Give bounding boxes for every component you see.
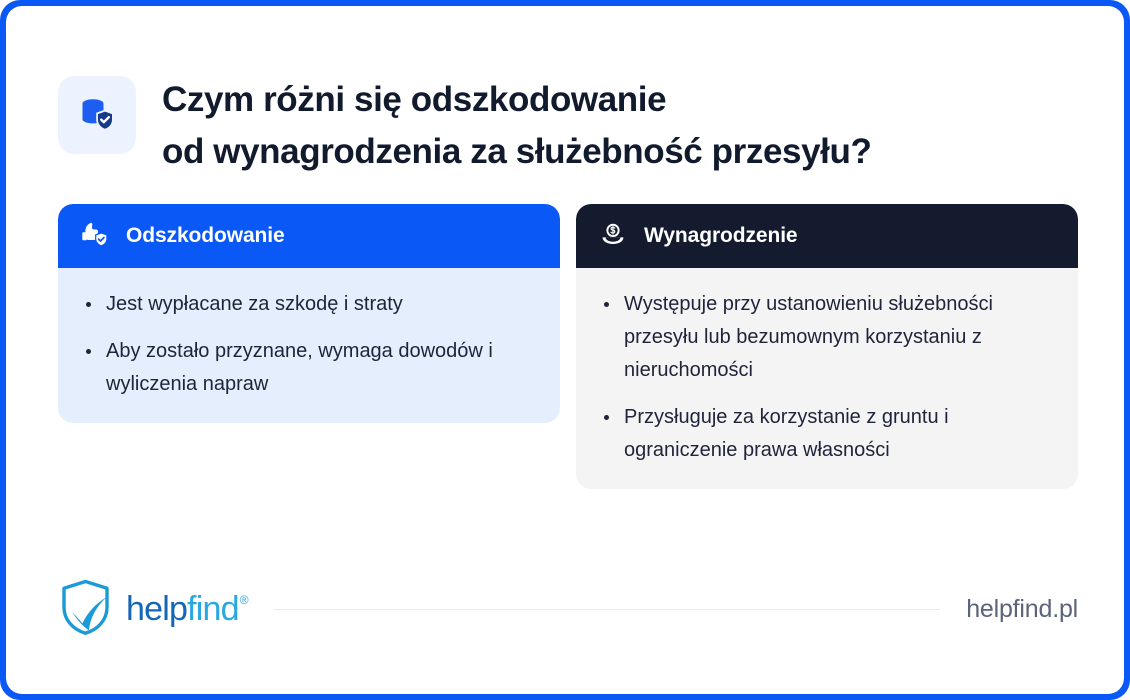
bullet-list-wynagrodzenie: Występuje przy ustanowieniu służebności … xyxy=(602,288,1052,467)
infographic-canvas: Czym różni się odszkodowanie od wynagrod… xyxy=(6,6,1124,694)
title-line-2: od wynagrodzenia za służebność przesyłu? xyxy=(162,126,871,178)
footer-domain: helpfind.pl xyxy=(966,595,1078,624)
helpfind-shield-logo xyxy=(58,578,114,641)
coin-dollar-hand-icon xyxy=(598,219,628,254)
footer: help find ® helpfind.pl xyxy=(58,574,1078,644)
thumbs-up-shield-check-icon xyxy=(80,219,110,254)
registered-trademark-icon: ® xyxy=(240,594,248,606)
card-header-odszkodowanie: Odszkodowanie xyxy=(58,204,560,268)
list-item: Jest wypłacane za szkodę i straty xyxy=(84,288,506,321)
logo-word-help: help xyxy=(126,592,187,626)
helpfind-logo[interactable]: help find ® xyxy=(58,578,248,641)
card-odszkodowanie: Odszkodowanie Jest wypłacane za szkodę i… xyxy=(58,204,560,423)
card-title-odszkodowanie: Odszkodowanie xyxy=(126,224,285,248)
card-body-wynagrodzenie: Występuje przy ustanowieniu służebności … xyxy=(576,268,1078,489)
list-item: Przysługuje za korzystanie z gruntu i og… xyxy=(602,401,1024,467)
bullet-list-odszkodowanie: Jest wypłacane za szkodę i straty Aby zo… xyxy=(84,288,534,401)
helpfind-wordmark: help find ® xyxy=(126,592,248,626)
card-title-wynagrodzenie: Wynagrodzenie xyxy=(644,224,798,248)
card-body-odszkodowanie: Jest wypłacane za szkodę i straty Aby zo… xyxy=(58,268,560,423)
title-line-1: Czym różni się odszkodowanie xyxy=(162,74,871,126)
database-shield-check-icon xyxy=(74,90,120,141)
footer-divider xyxy=(274,609,940,610)
page-title: Czym różni się odszkodowanie od wynagrod… xyxy=(162,72,871,178)
card-header-wynagrodzenie: Wynagrodzenie xyxy=(576,204,1078,268)
header-icon-tile xyxy=(58,76,136,154)
header: Czym różni się odszkodowanie od wynagrod… xyxy=(58,72,1084,178)
card-wynagrodzenie: Wynagrodzenie Występuje przy ustanowieni… xyxy=(576,204,1078,489)
infographic-card: Czym różni się odszkodowanie od wynagrod… xyxy=(0,0,1130,700)
list-item: Występuje przy ustanowieniu służebności … xyxy=(602,288,1024,387)
logo-word-find: find xyxy=(187,592,239,626)
list-item: Aby zostało przyznane, wymaga dowodów i … xyxy=(84,335,506,401)
comparison-cards: Odszkodowanie Jest wypłacane za szkodę i… xyxy=(58,204,1078,489)
